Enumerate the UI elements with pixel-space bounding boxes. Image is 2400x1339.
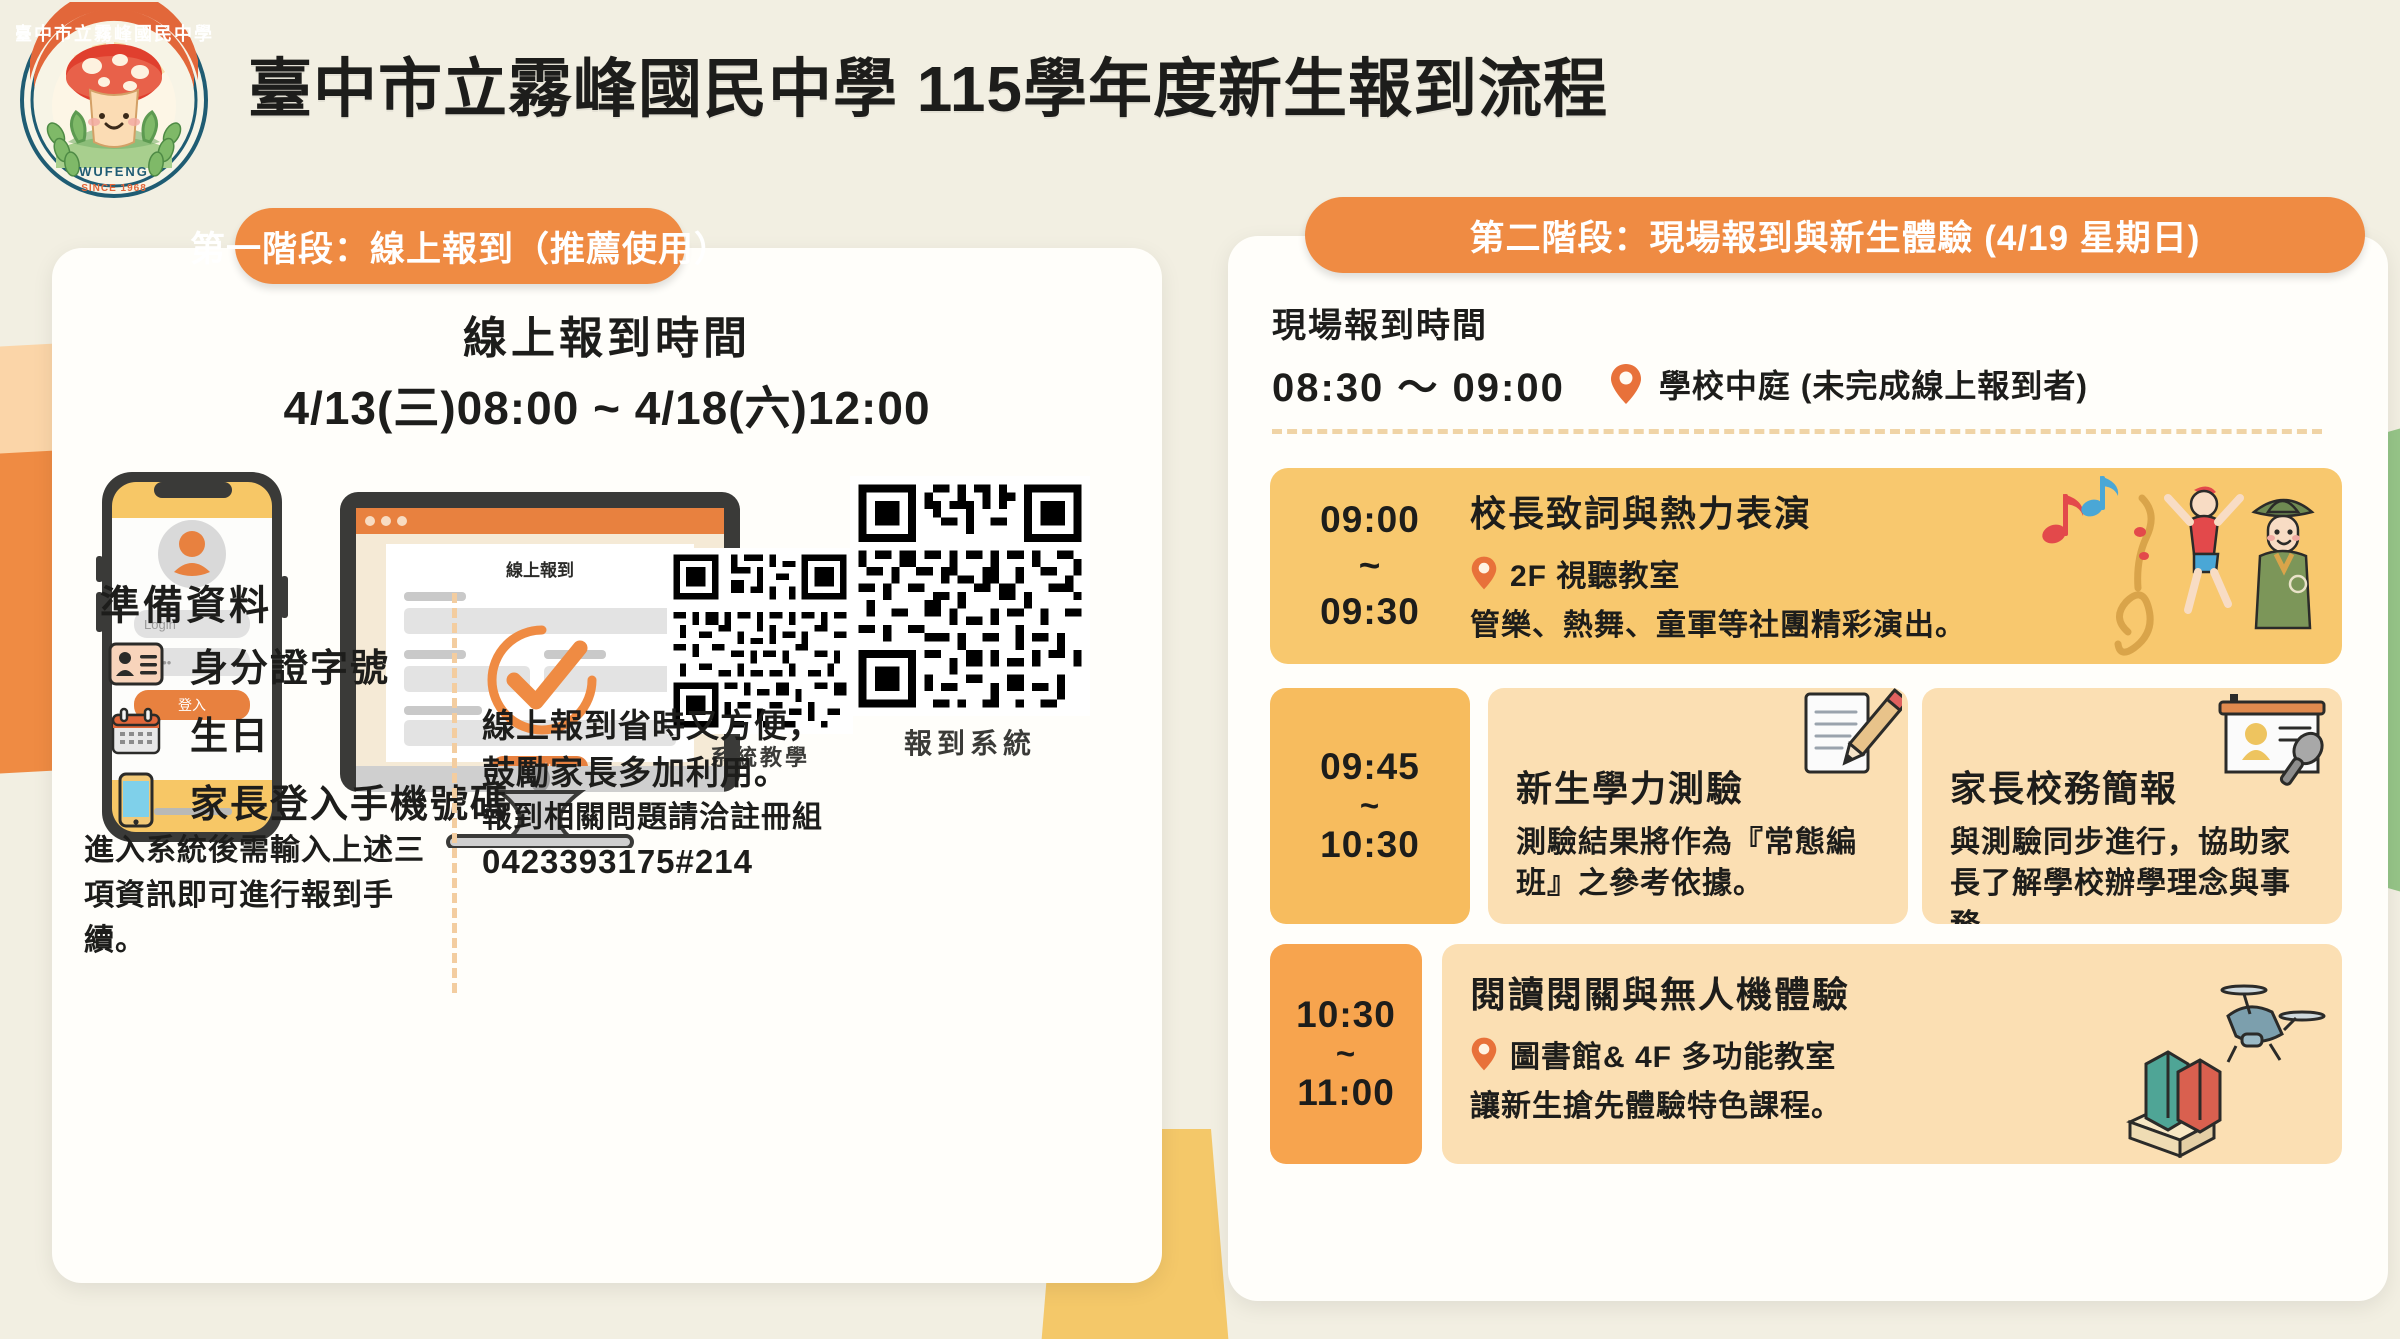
prepare-item-parent-phone: 家長登入手機號碼 bbox=[104, 769, 510, 831]
schedule-2-time-separator: ~ bbox=[1360, 788, 1380, 824]
music-dance-scout-icon bbox=[2032, 472, 2332, 664]
schedule-2-card-1-description: 測驗結果將作為『常態編班』之參考依據。 bbox=[1516, 822, 1880, 905]
schedule-1-time-end: 09:30 bbox=[1270, 589, 1470, 635]
schedule-1-time-separator: ~ bbox=[1270, 543, 1470, 589]
stage-2-panel: 現場報到時間 08:30 ～ 09:00 學校中庭 (未完成線上報到者) 09:… bbox=[1228, 236, 2388, 1301]
onsite-checkin-label: 現場報到時間 bbox=[1272, 298, 2088, 347]
logo-latin-name: WUFENG bbox=[79, 164, 149, 179]
prepare-item-birthday: 生日 bbox=[104, 701, 510, 763]
schedule-row-1: 09:00 ~ 09:30 校長致詞與熱力表演 2F 視聽教室 管樂、熱舞、童軍… bbox=[1270, 468, 2342, 664]
prepare-item-label: 身分證字號 bbox=[190, 637, 390, 692]
logo-since-text: SINCE 1968 bbox=[81, 183, 147, 194]
prepare-documents-note: 進入系統後需輸入上述三項資訊即可進行報到手續。 bbox=[84, 828, 444, 963]
promo-line-1: 線上報到省時又方便， bbox=[482, 703, 982, 750]
schedule-row-2: 09:45 ~ 10:30 bbox=[1270, 688, 2342, 924]
schedule-row-3: 10:30 ~ 11:00 bbox=[1270, 944, 2342, 1164]
vertical-divider bbox=[452, 593, 457, 993]
stage-1-banner: 第一階段：線上報到（推薦使用） bbox=[235, 208, 685, 284]
prepare-item-label: 家長登入手機號碼 bbox=[190, 773, 510, 828]
location-pin-icon bbox=[1470, 555, 1498, 591]
schedule-3-time-end: 11:00 bbox=[1297, 1072, 1395, 1114]
onsite-checkin-time: 08:30 ～ 09:00 bbox=[1272, 355, 1565, 413]
prepare-documents-list: 身分證字號 生日 bbox=[104, 633, 510, 837]
schedule-3-time-separator: ~ bbox=[1336, 1036, 1356, 1072]
location-pin-icon bbox=[1470, 1036, 1498, 1072]
location-pin-icon bbox=[1609, 362, 1643, 406]
schedule-2-card-1-title: 新生學力測驗 bbox=[1516, 760, 1880, 812]
online-registration-heading: 線上報到時間 bbox=[52, 302, 1162, 366]
schedule-3-location: 圖書館& 4F 多功能教室 bbox=[1510, 1032, 1836, 1076]
schedule-2-time-end: 10:30 bbox=[1320, 824, 1420, 866]
schedule-1-time-start: 09:00 bbox=[1270, 497, 1470, 543]
desktop-form-title: 線上報到 bbox=[506, 560, 574, 580]
online-registration-daterange: 4/13(三)08:00 ~ 4/18(六)12:00 bbox=[52, 372, 1162, 438]
logo-ring-text: 臺中市立霧峰國民中學 bbox=[16, 23, 212, 44]
prepare-item-label: 生日 bbox=[190, 705, 270, 760]
registration-office-phone: 0423393175#214 bbox=[482, 839, 982, 886]
horizontal-divider bbox=[1272, 429, 2322, 434]
schedule-2-card-2-description: 與測驗同步進行，協助家長了解學校辦學理念與事務。 bbox=[1950, 822, 2314, 924]
schedule-3-title: 閱讀閱關與無人機體驗 bbox=[1470, 966, 2314, 1018]
schedule-2-card-placement-test: 新生學力測驗 測驗結果將作為『常態編班』之參考依據。 bbox=[1488, 688, 1908, 924]
schedule-1-time: 09:00 ~ 09:30 bbox=[1270, 497, 1470, 636]
prepare-item-id-number: 身分證字號 bbox=[104, 633, 510, 695]
stage-1-panel: 線上報到時間 4/13(三)08:00 ~ 4/18(六)12:00 Login… bbox=[52, 248, 1162, 1283]
schedule-3-time-start: 10:30 bbox=[1296, 994, 1396, 1036]
schedule-2-time-start: 09:45 bbox=[1320, 746, 1420, 788]
promo-text-block: 線上報到省時又方便， 鼓勵家長多加利用。 報到相關問題請洽註冊組 0423393… bbox=[482, 703, 982, 886]
page-title: 臺中市立霧峰國民中學 115學年度新生報到流程 bbox=[248, 38, 1608, 130]
id-card-icon bbox=[104, 642, 168, 686]
promo-line-2: 鼓勵家長多加利用。 bbox=[482, 750, 982, 797]
promo-line-3: 報到相關問題請洽註冊組 bbox=[482, 797, 982, 840]
school-logo: WUFENG SINCE 1968 臺中市立霧峰國民中學 bbox=[16, 2, 212, 198]
schedule-3-time: 10:30 ~ 11:00 bbox=[1270, 944, 1422, 1164]
schedule-2-card-parent-briefing: 家長校務簡報 與測驗同步進行，協助家長了解學校辦學理念與事務。 bbox=[1922, 688, 2342, 924]
onsite-checkin-place: 學校中庭 (未完成線上報到者) bbox=[1659, 361, 2088, 407]
schedule-2-time: 09:45 ~ 10:30 bbox=[1270, 688, 1470, 924]
onsite-checkin-header: 現場報到時間 08:30 ～ 09:00 學校中庭 (未完成線上報到者) bbox=[1272, 298, 2088, 413]
schedule-3-card: 閱讀閱關與無人機體驗 圖書館& 4F 多功能教室 讓新生搶先體驗特色課程。 bbox=[1442, 944, 2342, 1164]
schedule-1-location: 2F 視聽教室 bbox=[1510, 551, 1680, 595]
schedule-3-description: 讓新生搶先體驗特色課程。 bbox=[1470, 1086, 2314, 1127]
prepare-documents-title: 準備資料 bbox=[100, 573, 272, 631]
mobile-phone-icon bbox=[104, 772, 168, 828]
stage-2-banner: 第二階段：現場報到與新生體驗 (4/19 星期日) bbox=[1305, 197, 2365, 273]
schedule-2-card-2-title: 家長校務簡報 bbox=[1950, 760, 2314, 812]
calendar-icon bbox=[104, 707, 168, 757]
